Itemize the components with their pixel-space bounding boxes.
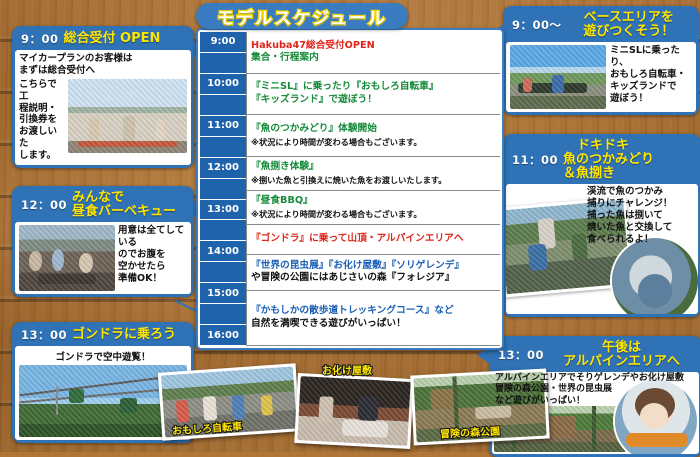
callout-body: 渓流で魚のつかみ 捕りにチャレンジ！ 捕った魚は捌いて 焼いた魚と交換して 食べ… bbox=[587, 186, 695, 245]
row-1100: 『魚のつかみどり』体験開始※状況により時間が変わる場合もございます。 bbox=[247, 115, 500, 157]
row-0900: Hakuba47総合受付OPEN集合・行程案内 bbox=[247, 32, 500, 74]
callout-left-0900: 9：00 総合受付 OPEN マイカープランのお客様は まずは総合受付へ こちら… bbox=[12, 26, 194, 168]
row-1500: 『かもしかの散歩道トレッキングコース』など自然を満喫できる遊びがいっぱい！ bbox=[247, 291, 500, 346]
photo-label-1: お化け屋敷 bbox=[322, 362, 372, 377]
time-cell-1600: 16:00 bbox=[200, 325, 246, 346]
page-title-banner: モデルスケジュール bbox=[196, 3, 408, 29]
schedule-line: 『世界の昆虫展』『お化け屋敷』『ソリゲレンデ』 bbox=[251, 260, 496, 273]
row-1400: 『世界の昆虫展』『お化け屋敷』『ソリゲレンデ』や冒険の公園にはあじさいの森『フォ… bbox=[247, 255, 500, 291]
callout-panel: 用意は全てしている のでお腹を 空かせたら 準備OK！ bbox=[15, 222, 191, 294]
schedule-line: 『かもしかの散歩道トレッキングコース』など bbox=[251, 305, 496, 318]
time-cell-1200: 12:00 bbox=[200, 158, 246, 179]
time-cell-1500: 15:00 bbox=[200, 283, 246, 304]
schedule-line: 『魚捌き体験』 bbox=[251, 161, 496, 174]
schedule-line: 『魚のつかみどり』体験開始 bbox=[251, 123, 496, 136]
callout-time: 11：00 bbox=[512, 152, 558, 168]
time-cell-blank bbox=[200, 304, 246, 325]
photo-reception-building bbox=[68, 79, 187, 153]
page-title: モデルスケジュール bbox=[217, 4, 387, 29]
callout-body: ミニSLに乗ったり、 おもしろ自転車・ キッズランドで 遊ぼう！ bbox=[610, 45, 692, 104]
photo-fish-cleaning bbox=[610, 236, 698, 314]
callout-time: 13：00 bbox=[498, 347, 544, 363]
schedule-line: 自然を満喫できる遊びがいっぱい！ bbox=[251, 318, 496, 331]
callout-title: ゴンドラに乗ろう bbox=[72, 328, 176, 342]
callout-body-top: マイカープランのお客様は まずは総合受付へ bbox=[19, 53, 187, 77]
schedule-line: 集合・行程案内 bbox=[251, 52, 496, 65]
row-1300: 『ゴンドラ』に乗って山頂・アルパインエリアへ bbox=[247, 225, 500, 255]
callout-title: 総合受付 OPEN bbox=[64, 32, 161, 46]
callout-title-line1: ドキドキ bbox=[563, 139, 693, 153]
schedule-line: 『ミニSL』に乗ったり『おもしろ自転車』 bbox=[251, 81, 496, 94]
photo-bbq bbox=[19, 225, 115, 291]
callout-right-0900: 9：00〜 ベースエリアを 遊びつくそう！ ミニSLに乗ったり、 おもしろ自転車… bbox=[503, 6, 699, 115]
schedule-line: 『昼食BBQ』 bbox=[251, 195, 496, 208]
time-cell-blank bbox=[200, 262, 246, 283]
time-cell-1000: 10:00 bbox=[200, 74, 246, 95]
callout-title-line2: アルパインエリアへ bbox=[549, 355, 694, 369]
schedule-line: 『キッズランド』で遊ぼう！ bbox=[251, 94, 496, 107]
callout-body-side: こちらで工 程説明・ 引換券を お渡しいた します。 bbox=[19, 79, 65, 162]
time-cell-1100: 11:00 bbox=[200, 116, 246, 137]
callout-time: 13：00 bbox=[21, 327, 67, 343]
callout-left-1200: 12：00 みんなで 昼食バーベキュー 用意は全てしている のでお腹を 空かせた… bbox=[12, 186, 194, 297]
callout-panel: ミニSLに乗ったり、 おもしろ自転車・ キッズランドで 遊ぼう！ bbox=[506, 42, 696, 112]
schedule-line: ※状況により時間が変わる場合もございます。 bbox=[251, 208, 496, 220]
photo-haunted-house bbox=[297, 376, 410, 446]
schedule-line: Hakuba47総合受付OPEN bbox=[251, 40, 496, 53]
photo-label-2: 冒険の森公園 bbox=[440, 422, 501, 440]
callout-time: 12：00 bbox=[21, 197, 67, 213]
callout-title-line1: 午後は bbox=[549, 341, 694, 355]
callout-caption: ゴンドラで空中遊覧！ bbox=[19, 349, 187, 363]
time-cell-blank bbox=[200, 179, 246, 200]
callout-title-line1: みんなで bbox=[72, 191, 176, 205]
callout-panel: 渓流で魚のつかみ 捕りにチャレンジ！ 捕った魚は捌いて 焼いた魚と交換して 食べ… bbox=[506, 184, 698, 314]
callout-panel: マイカープランのお客様は まずは総合受付へ こちらで工 程説明・ 引換券を お渡… bbox=[15, 50, 191, 165]
schedule-line: ※捌いた魚と引換えに焼いた魚をお渡しいたします。 bbox=[251, 174, 496, 186]
photo-mini-sl bbox=[510, 45, 606, 109]
row-1000: 『ミニSL』に乗ったり『おもしろ自転車』『キッズランド』で遊ぼう！ bbox=[247, 74, 500, 116]
callout-time: 9：00〜 bbox=[512, 17, 562, 33]
schedule-line: 『ゴンドラ』に乗って山頂・アルパインエリアへ bbox=[251, 233, 496, 246]
row-1130: 『魚捌き体験』※捌いた魚と引換えに焼いた魚をお渡しいたします。 bbox=[247, 157, 500, 191]
schedule-line: や冒険の公園にはあじさいの森『フォレジア』 bbox=[251, 272, 496, 285]
callout-title-line2: 昼食バーベキュー bbox=[72, 205, 176, 219]
schedule-table: 9:00 10:00 11:00 12:00 13:00 14:00 15:00… bbox=[196, 28, 504, 350]
callout-body: アルパインエリアでそりゲレンデやお化け屋敷 冒険の森公園・世界の昆虫展 など遊び… bbox=[495, 373, 684, 407]
time-cell-1300: 13:00 bbox=[200, 200, 246, 221]
time-cell-blank bbox=[200, 137, 246, 158]
row-1200: 『昼食BBQ』※状況により時間が変わる場合もございます。 bbox=[247, 191, 500, 225]
time-cell-blank bbox=[200, 95, 246, 116]
time-cell-1400: 14:00 bbox=[200, 241, 246, 262]
time-cell-blank bbox=[200, 53, 246, 74]
time-cell-900: 9:00 bbox=[200, 32, 246, 53]
callout-title-line1: ベースエリアを bbox=[567, 11, 691, 25]
callout-title-line2: 魚のつかみどり bbox=[563, 153, 693, 167]
callout-body: 用意は全てしている のでお腹を 空かせたら 準備OK！ bbox=[118, 225, 187, 284]
time-cell-blank bbox=[200, 220, 246, 241]
callout-title-line3: ＆魚捌き bbox=[563, 167, 693, 181]
callout-time: 9：00 bbox=[21, 31, 59, 47]
schedule-line: ※状況により時間が変わる場合もございます。 bbox=[251, 136, 496, 148]
schedule-rows: Hakuba47総合受付OPEN集合・行程案内『ミニSL』に乗ったり『おもしろ自… bbox=[246, 32, 500, 346]
callout-title-line2: 遊びつくそう！ bbox=[567, 25, 691, 39]
polaroid-obake-yashiki bbox=[294, 373, 414, 449]
time-column: 9:00 10:00 11:00 12:00 13:00 14:00 15:00… bbox=[200, 32, 246, 346]
callout-right-1100: 11：00 ドキドキ 魚のつかみどり ＆魚捌き 渓流で魚のつかみ 捕りにチャレン… bbox=[503, 134, 700, 317]
